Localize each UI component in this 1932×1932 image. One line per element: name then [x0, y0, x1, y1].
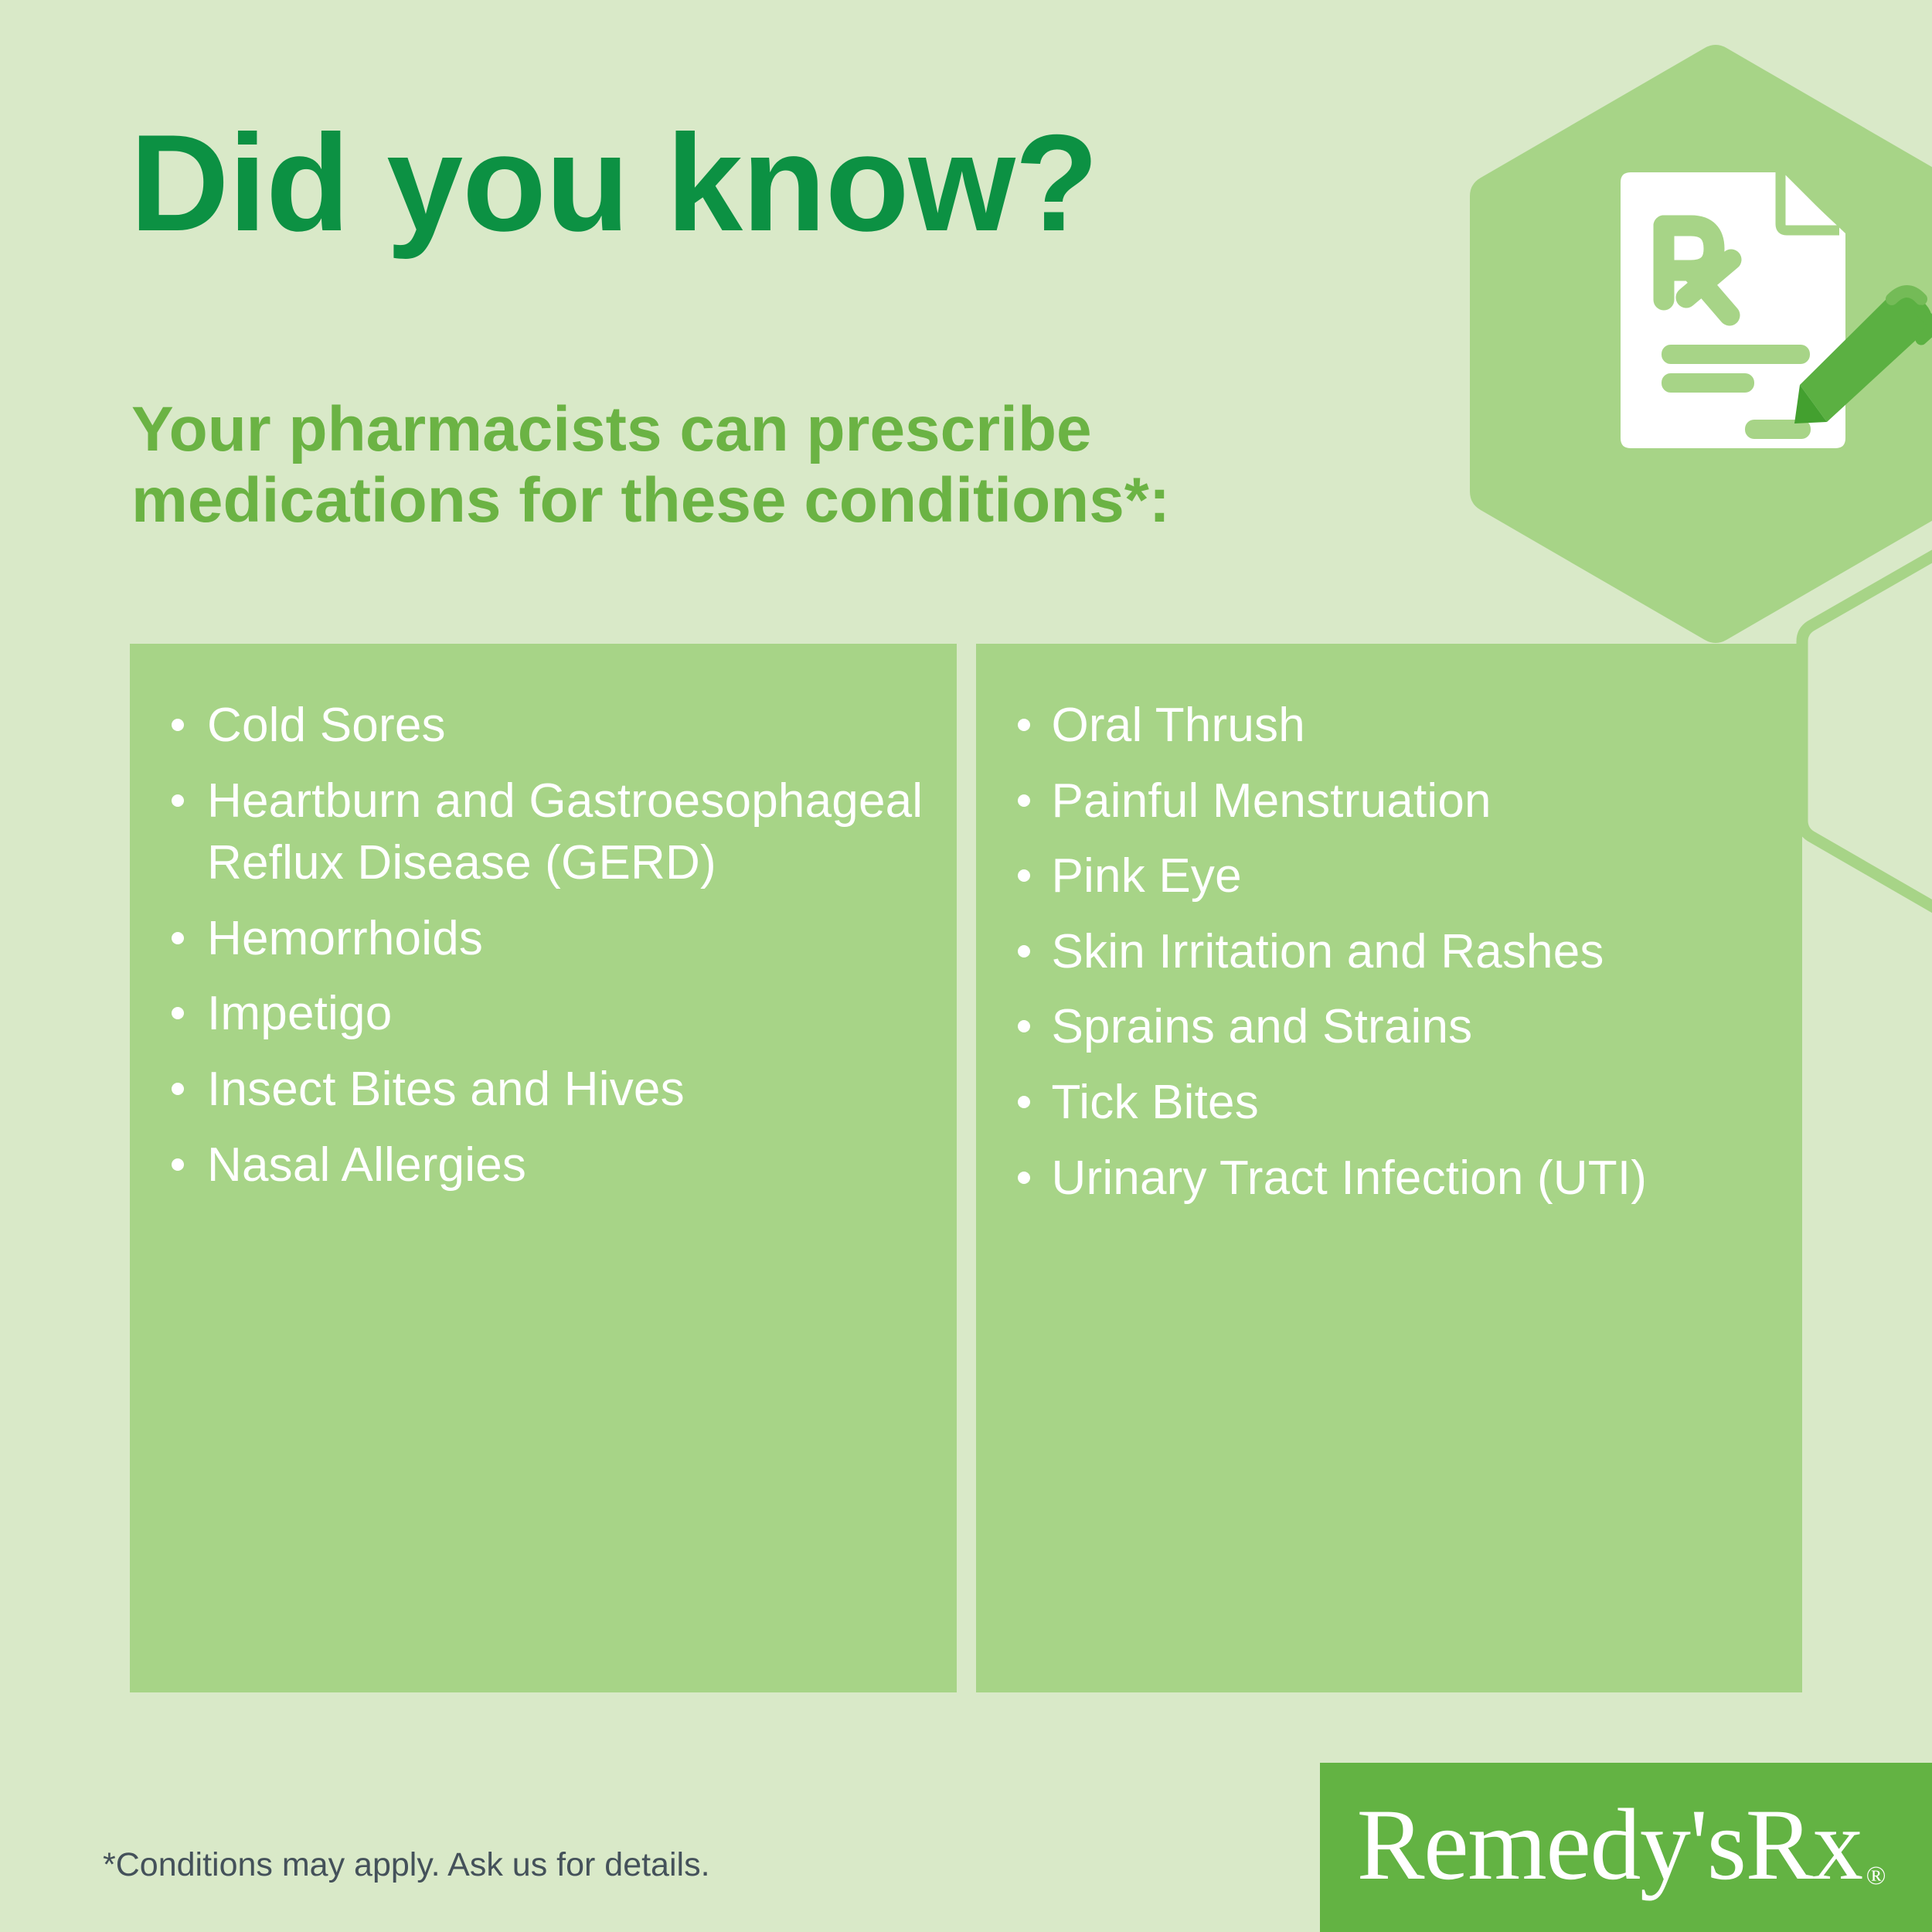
condition-list-item: Urinary Tract Infection (UTI) [1007, 1148, 1772, 1210]
brand-logo-text: Remedy'sRx [1357, 1794, 1862, 1896]
condition-list-item: Tick Bites [1007, 1072, 1772, 1134]
condition-list-item: Impetigo [161, 983, 926, 1046]
subtitle-line-1: Your pharmacists can prescribe [131, 394, 1170, 465]
poster-canvas: Did you know? Your pharmacists can presc… [0, 0, 1932, 1932]
subtitle-line-2: medications for these conditions*: [131, 465, 1170, 536]
conditions-list-left: Cold SoresHeartburn and Gastroesophageal… [161, 695, 926, 1196]
condition-list-item: Insect Bites and Hives [161, 1059, 926, 1121]
hexagon-outline-icon [1791, 533, 1932, 920]
condition-list-item: Skin Irritation and Rashes [1007, 921, 1772, 984]
condition-list-item: Oral Thrush [1007, 695, 1772, 757]
condition-list-item: Pink Eye [1007, 845, 1772, 908]
condition-list-item: Sprains and Strains [1007, 996, 1772, 1059]
page-subtitle: Your pharmacists can prescribe medicatio… [131, 394, 1170, 536]
conditions-card-left: Cold SoresHeartburn and Gastroesophageal… [130, 644, 957, 1692]
pencil-icon [1794, 289, 1932, 423]
hexagon-icon [1459, 31, 1932, 657]
condition-list-item: Hemorrhoids [161, 908, 926, 971]
condition-list-item: Cold Sores [161, 695, 926, 757]
registered-trademark-icon: ® [1866, 1863, 1886, 1889]
condition-list-item: Heartburn and Gastroesophageal Reflux Di… [161, 770, 926, 895]
brand-logo: Remedy'sRx ® [1320, 1763, 1932, 1932]
conditions-panels: Cold SoresHeartburn and Gastroesophageal… [130, 644, 1802, 1692]
footnote-disclaimer: *Conditions may apply. Ask us for detail… [103, 1845, 710, 1886]
rx-symbol-icon [1664, 226, 1731, 315]
conditions-list-right: Oral ThrushPainful MenstruationPink EyeS… [1007, 695, 1772, 1209]
page-title: Did you know? [130, 114, 1098, 252]
conditions-card-right: Oral ThrushPainful MenstruationPink EyeS… [976, 644, 1803, 1692]
document-text-lines [1662, 345, 1811, 439]
prescription-document-icon [1621, 172, 1845, 448]
condition-list-item: Nasal Allergies [161, 1134, 926, 1197]
condition-list-item: Painful Menstruation [1007, 770, 1772, 833]
